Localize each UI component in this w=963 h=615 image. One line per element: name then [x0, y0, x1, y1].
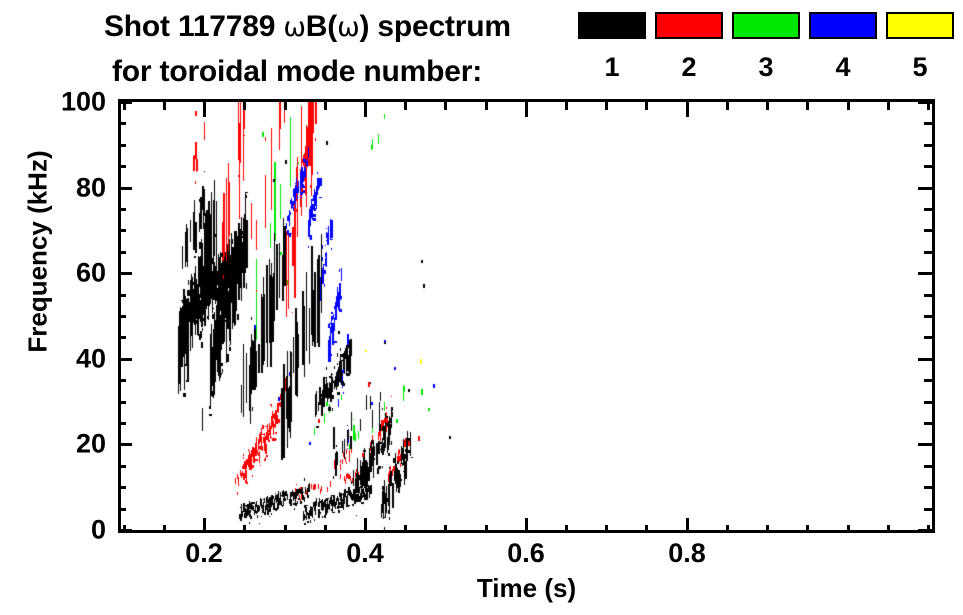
xtick-minor-0.75: [645, 525, 648, 533]
xtick-minor-0.65: [565, 525, 568, 533]
plot-area: 0204060801000.20.40.60.8 Frequency (kHz)…: [0, 0, 963, 615]
xtick-minor-top-0.25: [243, 102, 246, 110]
xtick-minor-top-0.3: [284, 102, 287, 110]
ytick-minor-25: [118, 422, 126, 425]
xtick-minor-top-0.95: [806, 102, 809, 110]
ytick-label-60: 60: [0, 258, 112, 289]
ytick-minor-90: [118, 144, 126, 147]
xtick-label-0.8: 0.8: [627, 538, 747, 569]
ytick-minor-45: [118, 336, 126, 339]
xtick-minor-1.1: [927, 525, 930, 533]
xtick-minor-top-0.7: [605, 102, 608, 110]
ytick-minor-right-70: [924, 229, 932, 232]
xtick-minor-0.1: [123, 525, 126, 533]
ytick-minor-85: [118, 165, 126, 168]
xtick-minor-0.85: [726, 525, 729, 533]
ytick-minor-5: [118, 508, 126, 511]
ytick-minor-right-35: [924, 379, 932, 382]
xtick-minor-0.7: [605, 525, 608, 533]
xtick-label-0.4: 0.4: [305, 538, 425, 569]
xtick-minor-top-0.55: [485, 102, 488, 110]
ytick-minor-right-65: [924, 251, 932, 254]
ytick-minor-10: [118, 486, 126, 489]
y-axis-label: Frequency (kHz): [23, 92, 54, 412]
ytick-major-20: [118, 443, 132, 446]
ytick-minor-right-95: [924, 122, 932, 125]
ytick-label-40: 40: [0, 344, 112, 375]
x-axis-label: Time (s): [118, 573, 935, 604]
xtick-minor-top-0.15: [163, 102, 166, 110]
xtick-minor-0.25: [243, 525, 246, 533]
xtick-label-0.6: 0.6: [466, 538, 586, 569]
xtick-minor-1.05: [887, 525, 890, 533]
xtick-major-0.4: [364, 518, 367, 533]
xtick-minor-top-0.5: [444, 102, 447, 110]
ytick-major-60: [118, 272, 132, 275]
xtick-minor-top-0.1: [123, 102, 126, 110]
xtick-minor-0.55: [485, 525, 488, 533]
xtick-minor-top-0.45: [404, 102, 407, 110]
xtick-label-0.2: 0.2: [144, 538, 264, 569]
ytick-label-100: 100: [0, 87, 112, 118]
ytick-major-right-20: [918, 443, 932, 446]
ytick-label-80: 80: [0, 173, 112, 204]
plot-frame: [118, 99, 935, 533]
xtick-minor-top-1.05: [887, 102, 890, 110]
xtick-major-top-0.6: [525, 102, 528, 117]
xtick-major-top-0.4: [364, 102, 367, 117]
ytick-major-80: [118, 187, 132, 190]
xtick-minor-0.15: [163, 525, 166, 533]
ytick-minor-right-10: [924, 486, 932, 489]
xtick-minor-0.35: [324, 525, 327, 533]
ytick-major-right-40: [918, 358, 932, 361]
ytick-minor-right-90: [924, 144, 932, 147]
xtick-major-0.6: [525, 518, 528, 533]
ytick-major-right-80: [918, 187, 932, 190]
xtick-minor-0.45: [404, 525, 407, 533]
xtick-minor-1: [847, 525, 850, 533]
xtick-minor-0.9: [766, 525, 769, 533]
xtick-minor-top-0.65: [565, 102, 568, 110]
ytick-minor-55: [118, 294, 126, 297]
ytick-minor-50: [118, 315, 126, 318]
xtick-minor-0.3: [284, 525, 287, 533]
ytick-minor-right-30: [924, 401, 932, 404]
xtick-minor-top-0.85: [726, 102, 729, 110]
xtick-minor-top-0.35: [324, 102, 327, 110]
xtick-minor-top-0.75: [645, 102, 648, 110]
ytick-minor-right-75: [924, 208, 932, 211]
ytick-minor-65: [118, 251, 126, 254]
ytick-minor-70: [118, 229, 126, 232]
xtick-major-0.8: [686, 518, 689, 533]
xtick-minor-top-0.9: [766, 102, 769, 110]
ytick-minor-right-85: [924, 165, 932, 168]
ytick-minor-30: [118, 401, 126, 404]
xtick-major-0.2: [203, 518, 206, 533]
ytick-major-right-60: [918, 272, 932, 275]
ytick-minor-75: [118, 208, 126, 211]
ytick-minor-right-15: [924, 465, 932, 468]
ytick-major-40: [118, 358, 132, 361]
ytick-minor-right-5: [924, 508, 932, 511]
spectrogram-figure: Shot 117789 ωB(ω) spectrum for toroidal …: [0, 0, 963, 615]
ytick-minor-right-50: [924, 315, 932, 318]
xtick-minor-0.5: [444, 525, 447, 533]
ytick-label-0: 0: [0, 515, 112, 546]
ytick-minor-35: [118, 379, 126, 382]
xtick-minor-top-1.1: [927, 102, 930, 110]
xtick-major-top-0.8: [686, 102, 689, 117]
ytick-minor-right-25: [924, 422, 932, 425]
ytick-label-20: 20: [0, 429, 112, 460]
xtick-minor-0.95: [806, 525, 809, 533]
ytick-minor-15: [118, 465, 126, 468]
spectrogram-canvas: [121, 102, 932, 530]
ytick-minor-95: [118, 122, 126, 125]
ytick-minor-right-45: [924, 336, 932, 339]
xtick-major-top-0.2: [203, 102, 206, 117]
xtick-minor-top-1: [847, 102, 850, 110]
ytick-minor-right-55: [924, 294, 932, 297]
